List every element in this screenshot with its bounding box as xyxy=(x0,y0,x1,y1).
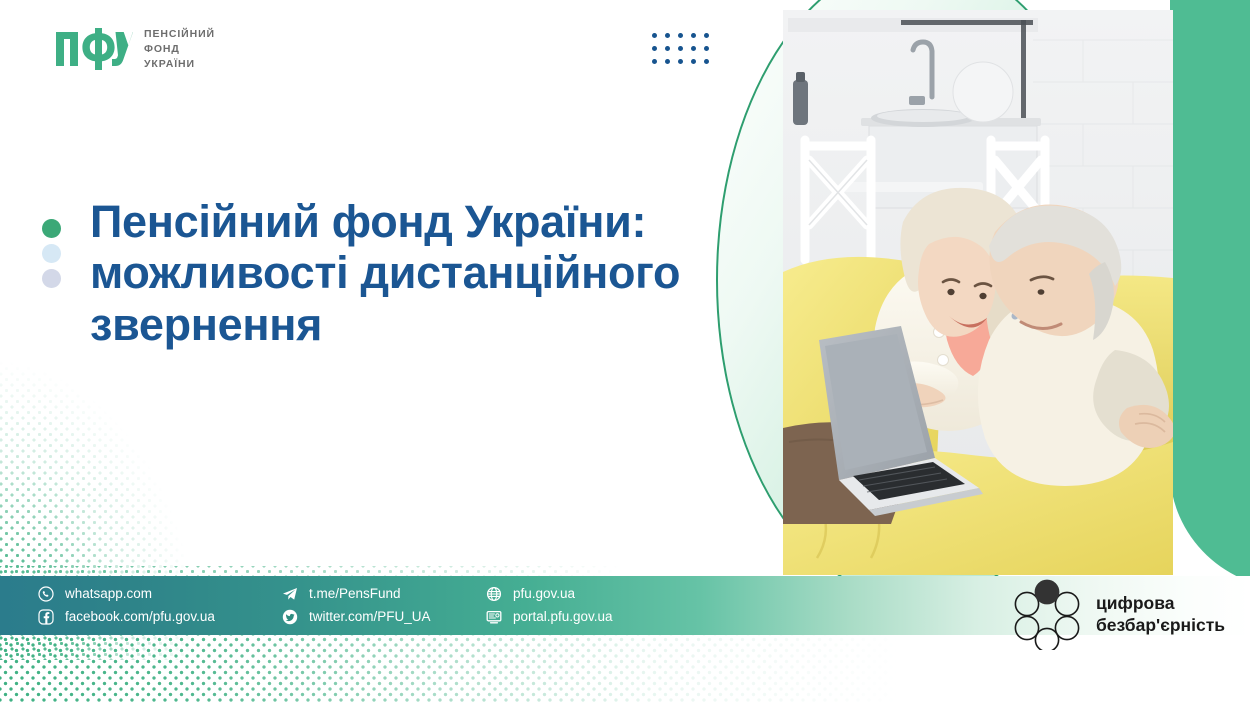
halftone-texture-bottom xyxy=(0,634,900,703)
twitter-icon xyxy=(282,609,298,625)
pfu-name-line-1: ПЕНСІЙНИЙ xyxy=(144,27,215,41)
footer-link-facebook-label: facebook.com/pfu.gov.ua xyxy=(65,610,215,624)
footer-link-telegram-label: t.me/PensFund xyxy=(309,587,401,601)
telegram-icon xyxy=(282,586,298,602)
footer-column-messengers: t.me/PensFund twitter.com/PFU_UA xyxy=(282,586,472,625)
footer-link-website[interactable]: pfu.gov.ua xyxy=(486,586,686,602)
footer-column-social: whatsapp.com facebook.com/pfu.gov.ua xyxy=(38,586,268,625)
green-right-edge-shape xyxy=(1170,0,1250,590)
halftone-texture-above-footer xyxy=(0,566,620,576)
whatsapp-icon xyxy=(38,586,54,602)
page-title-line-2: можливості дистанційного xyxy=(90,247,730,298)
pfu-name-line-3: УКРАЇНИ xyxy=(144,57,215,71)
footer-link-telegram[interactable]: t.me/PensFund xyxy=(282,586,472,602)
portal-monitor-icon xyxy=(486,609,502,625)
footer-column-web: pfu.gov.ua portal.pfu.gov.ua xyxy=(486,586,686,625)
poster-canvas: ПЕНСІЙНИЙ ФОНД УКРАЇНИ Пенсійний фонд Ук… xyxy=(0,0,1250,703)
elderly-couple-with-laptop-photo xyxy=(783,10,1173,575)
dot-grid-icon xyxy=(652,33,717,72)
pfu-logo: ПЕНСІЙНИЙ ФОНД УКРАЇНИ xyxy=(55,27,215,72)
title-bullet-dots xyxy=(42,219,61,288)
digital-accessibility-logo: цифрова безбар'єрність xyxy=(1010,578,1225,650)
footer-link-whatsapp[interactable]: whatsapp.com xyxy=(38,586,268,602)
bullet-green xyxy=(42,219,61,238)
accessibility-line-1: цифрова xyxy=(1096,593,1225,614)
footer-link-website-label: pfu.gov.ua xyxy=(513,587,575,601)
footer-link-whatsapp-label: whatsapp.com xyxy=(65,587,152,601)
footer-link-portal[interactable]: portal.pfu.gov.ua xyxy=(486,609,686,625)
page-title: Пенсійний фонд України: можливості диста… xyxy=(90,196,730,350)
digital-accessibility-text: цифрова безбар'єрність xyxy=(1096,593,1225,635)
footer-link-twitter[interactable]: twitter.com/PFU_UA xyxy=(282,609,472,625)
pfu-name-line-2: ФОНД xyxy=(144,42,215,56)
page-title-line-1: Пенсійний фонд України: xyxy=(90,196,730,247)
pfu-logo-icon xyxy=(55,28,133,70)
bullet-lightblue xyxy=(42,244,61,263)
footer-link-facebook[interactable]: facebook.com/pfu.gov.ua xyxy=(38,609,268,625)
accessibility-line-2: безбар'єрність xyxy=(1096,615,1225,636)
footer-link-twitter-label: twitter.com/PFU_UA xyxy=(309,610,431,624)
facebook-icon xyxy=(38,609,54,625)
pfu-logo-text: ПЕНСІЙНИЙ ФОНД УКРАЇНИ xyxy=(144,27,215,72)
digital-accessibility-icon xyxy=(1010,578,1084,650)
bullet-periwinkle xyxy=(42,269,61,288)
footer-link-portal-label: portal.pfu.gov.ua xyxy=(513,610,613,624)
page-title-line-3: звернення xyxy=(90,299,730,350)
globe-icon xyxy=(486,586,502,602)
